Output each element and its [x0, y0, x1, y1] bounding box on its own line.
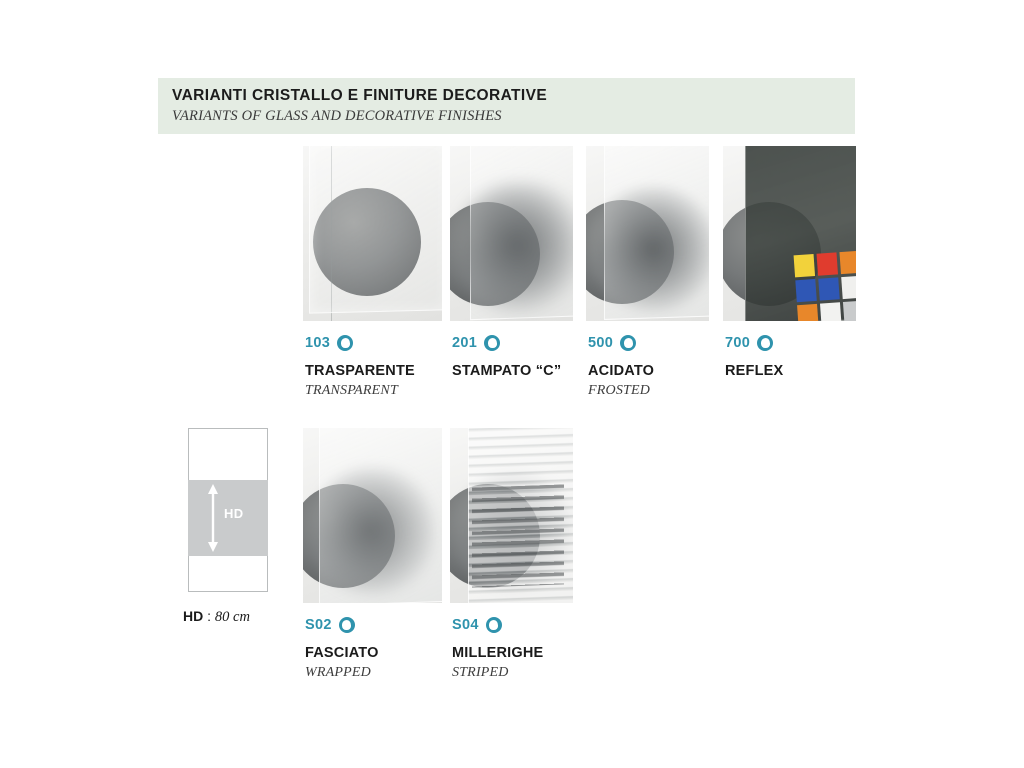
- hd-caption: HD : 80 cm: [183, 608, 250, 626]
- sample-code: 700: [725, 335, 750, 351]
- sample-code: 201: [452, 335, 477, 351]
- hd-dimension-diagram: HD: [188, 428, 268, 592]
- swatch: [841, 276, 856, 299]
- sample-name-en: WRAPPED: [305, 665, 444, 681]
- sample-card-201[interactable]: 201 STAMPATO “C”: [450, 146, 573, 383]
- page-subtitle: VARIANTS OF GLASS AND DECORATIVE FINISHE…: [172, 108, 502, 125]
- sample-caption-s02: S02 FASCIATO WRAPPED: [305, 615, 444, 681]
- glass-drop-icon: [484, 335, 500, 351]
- sample-card-s04[interactable]: S04 MILLERIGHE STRIPED: [450, 428, 573, 681]
- code-row: S04: [452, 615, 575, 635]
- sample-name: REFLEX: [725, 363, 858, 379]
- glass-pane: [309, 146, 442, 314]
- diffused-sphere: [456, 182, 573, 314]
- hd-caption-key: HD: [183, 608, 203, 624]
- color-swatch-grid: [794, 251, 856, 321]
- sample-caption-700: 700 REFLEX: [725, 333, 858, 379]
- sample-name-en: TRANSPARENT: [305, 383, 444, 399]
- sample-image-103: [303, 146, 442, 321]
- glass-drop-icon: [339, 617, 355, 633]
- sample-name: ACIDATO: [588, 363, 711, 379]
- sample-name: STAMPATO “C”: [452, 363, 575, 379]
- swatch: [795, 279, 816, 302]
- hd-band-label: HD: [224, 506, 244, 521]
- code-row: S02: [305, 615, 444, 635]
- diffused-sphere: [311, 468, 435, 594]
- hd-caption-value: 80 cm: [215, 609, 250, 625]
- glass-drop-icon: [620, 335, 636, 351]
- glass-drop-icon: [337, 335, 353, 351]
- sample-caption-103: 103 TRASPARENTE TRANSPARENT: [305, 333, 444, 399]
- sample-image-s02: [303, 428, 442, 603]
- sample-code: S02: [305, 617, 332, 633]
- swatch: [843, 301, 856, 321]
- sample-code: S04: [452, 617, 479, 633]
- sample-code: 103: [305, 335, 330, 351]
- swatch: [839, 251, 856, 274]
- sample-image-s04: [450, 428, 573, 603]
- sample-card-s02[interactable]: S02 FASCIATO WRAPPED: [303, 428, 442, 681]
- sample-card-500[interactable]: 500 ACIDATO FROSTED: [586, 146, 709, 399]
- sample-caption-s04: S04 MILLERIGHE STRIPED: [452, 615, 575, 681]
- code-row: 201: [452, 333, 575, 353]
- sample-caption-500: 500 ACIDATO FROSTED: [588, 333, 711, 399]
- diffused-sphere: [590, 186, 709, 312]
- sample-image-201: [450, 146, 573, 321]
- swatch: [818, 277, 839, 300]
- glass-drop-icon: [486, 617, 502, 633]
- sample-image-700: [723, 146, 856, 321]
- sample-caption-201: 201 STAMPATO “C”: [452, 333, 575, 379]
- code-row: 500: [588, 333, 711, 353]
- swatch: [797, 304, 818, 321]
- sample-card-700[interactable]: 700 REFLEX: [723, 146, 856, 383]
- hd-caption-separator: :: [203, 608, 215, 624]
- sample-card-103[interactable]: 103 TRASPARENTE TRANSPARENT: [303, 146, 442, 399]
- swatch: [794, 254, 815, 277]
- sample-name-en: FROSTED: [588, 383, 711, 399]
- sample-image-500: [586, 146, 709, 321]
- sample-code: 500: [588, 335, 613, 351]
- stripe-overlay: [472, 484, 564, 587]
- catalog-page: VARIANTI CRISTALLO E FINITURE DECORATIVE…: [0, 0, 1024, 768]
- sample-name-en: STRIPED: [452, 665, 575, 681]
- double-arrow-icon: [206, 484, 220, 552]
- section-header-band: VARIANTI CRISTALLO E FINITURE DECORATIVE…: [158, 78, 855, 134]
- glass-drop-icon: [757, 335, 773, 351]
- page-title: VARIANTI CRISTALLO E FINITURE DECORATIVE: [172, 87, 547, 105]
- sample-name: MILLERIGHE: [452, 645, 575, 661]
- sample-name: TRASPARENTE: [305, 363, 444, 379]
- code-row: 103: [305, 333, 444, 353]
- swatch: [820, 302, 841, 321]
- sample-name: FASCIATO: [305, 645, 444, 661]
- swatch: [817, 252, 838, 275]
- code-row: 700: [725, 333, 858, 353]
